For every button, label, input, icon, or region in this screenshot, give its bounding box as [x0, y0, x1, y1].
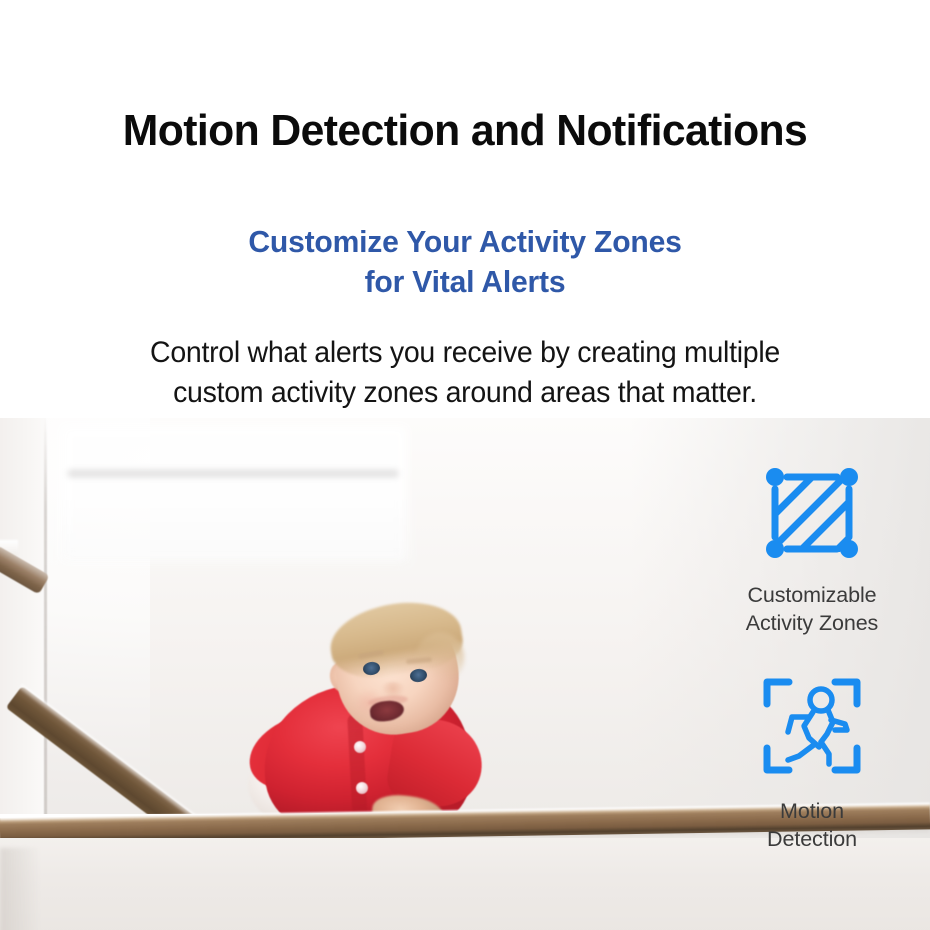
baby-figure	[244, 610, 494, 832]
feature-label-activity-zones: Customizable Activity Zones	[720, 582, 904, 638]
feature-label-motion-detection: Motion Detection	[720, 798, 904, 854]
description-line-1: Control what alerts you receive by creat…	[150, 336, 780, 369]
text-block: Motion Detection and Notifications Custo…	[0, 0, 930, 420]
page-description: Control what alerts you receive by creat…	[23, 333, 907, 413]
activity-zone-icon	[757, 462, 867, 570]
feature-customizable-activity-zones: Customizable Activity Zones	[720, 462, 904, 638]
feature-label-line-2: Activity Zones	[720, 610, 904, 638]
feature-motion-detection: Motion Detection	[720, 672, 904, 854]
stair-riser-corner-shadow	[0, 848, 40, 930]
feature-label-line-2: Detection	[720, 826, 904, 854]
page-root: Motion Detection and Notifications Custo…	[0, 0, 930, 930]
cardigan-button-bottom	[356, 782, 368, 794]
page-subtitle: Customize Your Activity Zones for Vital …	[14, 222, 916, 301]
feature-list: Customizable Activity Zones	[720, 462, 904, 854]
subtitle-line-1: Customize Your Activity Zones	[248, 224, 681, 259]
page-title: Motion Detection and Notifications	[14, 108, 916, 154]
window-light-glow	[62, 426, 407, 561]
motion-person-icon	[757, 672, 867, 780]
feature-label-line-1: Motion	[780, 799, 844, 823]
feature-label-line-1: Customizable	[747, 583, 876, 607]
description-line-2: custom activity zones around areas that …	[23, 373, 907, 413]
subtitle-line-2: for Vital Alerts	[14, 262, 916, 302]
window-mullion	[68, 470, 398, 477]
cardigan-button-top	[354, 741, 366, 753]
